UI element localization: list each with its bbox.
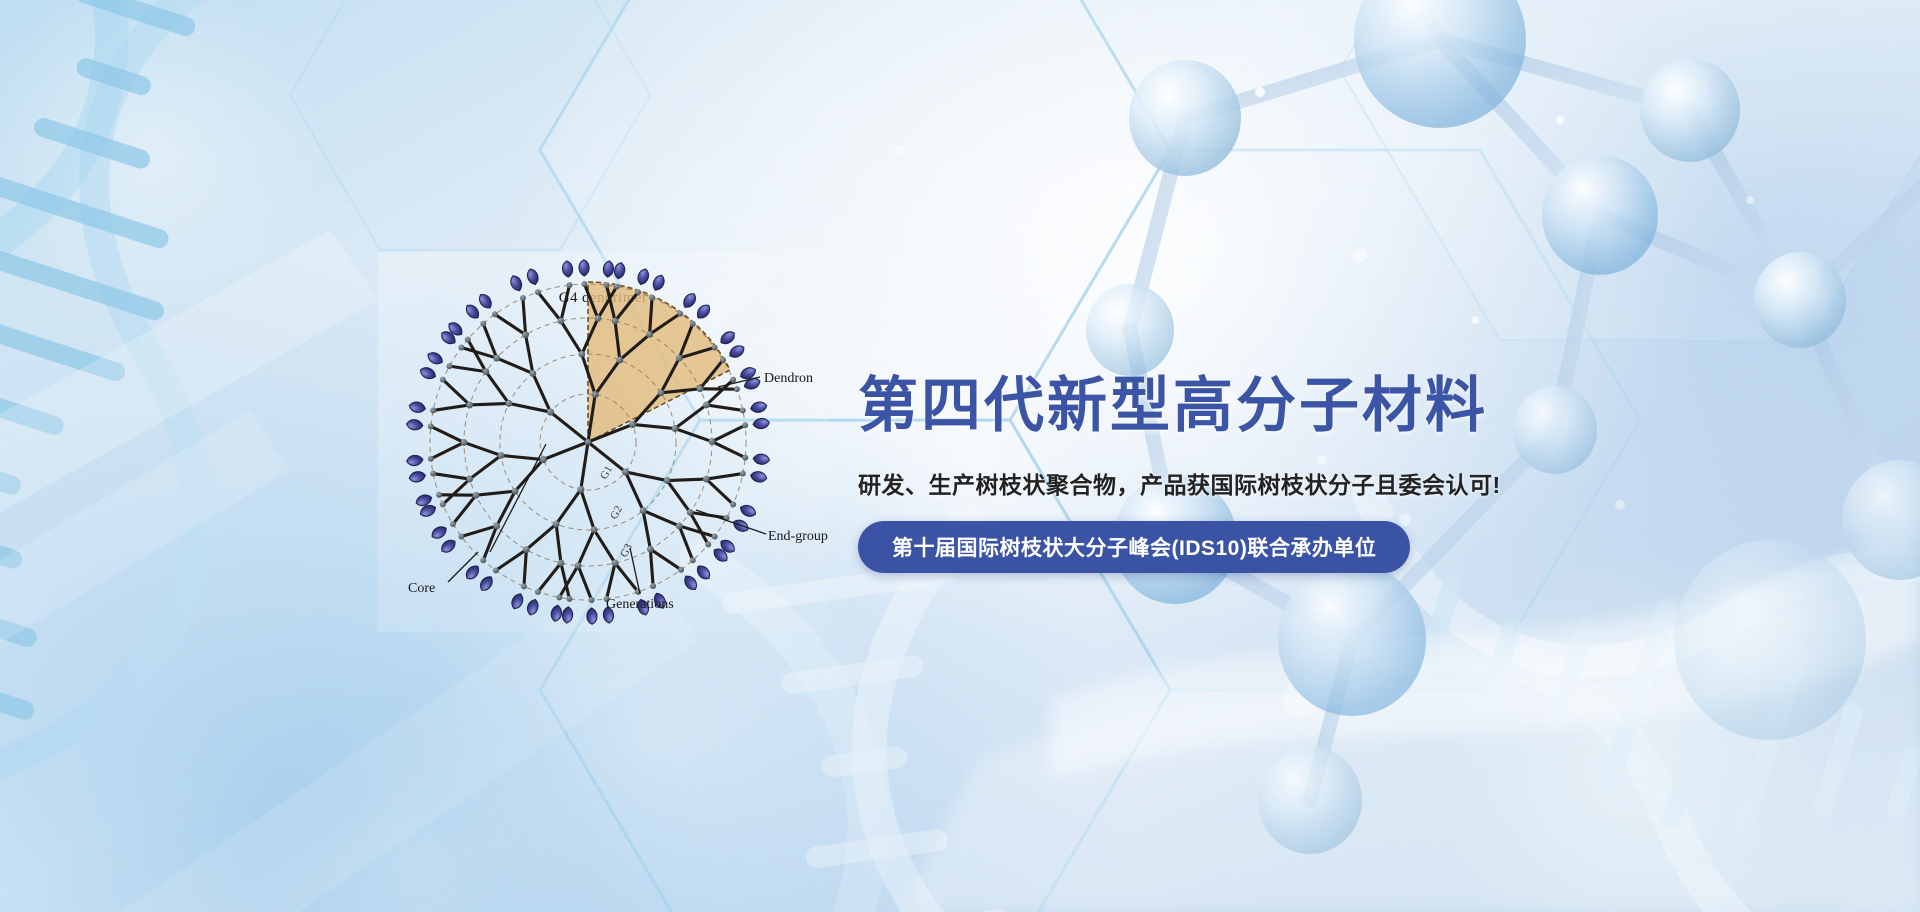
generation-label: G2 — [608, 504, 625, 522]
branch-node — [592, 391, 599, 398]
end-group-icon — [463, 563, 482, 582]
end-group-icon — [613, 262, 626, 280]
branch-node — [690, 321, 696, 327]
branch-node — [558, 560, 565, 567]
generation-label: G1 — [598, 464, 615, 482]
end-group-icon — [525, 598, 540, 617]
end-group-icon — [694, 302, 713, 321]
branch-node — [556, 594, 562, 600]
branch-node — [647, 546, 654, 553]
branch-node — [740, 407, 746, 413]
branch-node — [581, 281, 587, 287]
end-group-icon — [750, 401, 768, 414]
branch-node — [703, 402, 710, 409]
branch-node — [575, 562, 582, 569]
branch-node — [712, 534, 718, 540]
callout-label-dendron: Dendron — [764, 371, 813, 386]
page-title: 第四代新型高分子材料 — [858, 373, 1488, 439]
branch-node — [492, 311, 498, 317]
end-group-icon — [681, 291, 699, 310]
end-group-icon — [426, 350, 445, 367]
branch-node — [730, 377, 736, 383]
branch-node — [742, 455, 748, 461]
branch-node — [430, 471, 436, 477]
end-group-icon — [525, 267, 540, 286]
branch-node — [458, 534, 464, 540]
branch-node — [672, 425, 679, 432]
branch-node — [566, 282, 572, 288]
branch-node — [461, 439, 468, 446]
branch-node — [742, 422, 748, 428]
branch-node — [635, 289, 641, 295]
branch-node — [506, 400, 513, 407]
branch-node — [604, 282, 610, 288]
branch-node — [612, 560, 619, 567]
branch-node — [730, 501, 736, 507]
end-group-icon — [429, 524, 448, 541]
branch-node — [740, 471, 746, 477]
end-group-icon — [750, 470, 768, 483]
end-group-icon — [439, 537, 458, 555]
branch-node — [622, 468, 629, 475]
branch-node — [553, 521, 560, 528]
branch-node — [640, 507, 647, 514]
end-group-icon — [753, 453, 770, 465]
branch-node — [436, 492, 442, 498]
hero-banner: G4 dendrimer G1 — [0, 0, 1920, 912]
branch-node — [649, 295, 655, 301]
branch-node — [616, 357, 623, 364]
branch-node — [483, 368, 490, 375]
end-group-icon — [406, 419, 423, 431]
branch-node — [428, 456, 434, 462]
branch-node — [466, 476, 473, 483]
branch-node — [664, 477, 671, 484]
end-group-icon — [508, 274, 524, 293]
branch-node — [566, 596, 572, 602]
end-group-icon — [463, 302, 482, 321]
branch-node — [614, 284, 620, 290]
branch-node — [450, 521, 456, 527]
branch-node — [540, 456, 547, 463]
end-group-icon — [579, 260, 590, 277]
callout-label-generations: Generations — [606, 597, 674, 612]
branch-node — [646, 331, 653, 338]
branch-node — [547, 408, 554, 415]
branch-node — [629, 421, 636, 428]
generation-label: G3 — [618, 541, 635, 559]
branch-node — [428, 423, 434, 429]
branch-node — [493, 523, 500, 530]
branch-node — [591, 526, 598, 533]
end-group-icon — [682, 573, 700, 592]
end-group-icon — [602, 260, 614, 277]
end-group-icon — [509, 592, 525, 611]
branch-node — [446, 363, 452, 369]
branch-node — [529, 370, 536, 377]
end-group-icon — [753, 418, 770, 430]
branch-node — [678, 567, 684, 573]
end-group-icon — [651, 273, 667, 292]
end-group-icon — [562, 606, 574, 623]
branch-node — [535, 589, 541, 595]
branch-node — [578, 351, 585, 358]
page-subtitle: 研发、生产树枝状聚合物，产品获国际树枝状分子且委会认可! — [858, 469, 1501, 501]
end-group-icon — [477, 574, 495, 593]
branch-node — [589, 597, 595, 603]
end-group-icon — [562, 260, 574, 277]
branch-node — [676, 355, 683, 362]
branch-node — [466, 402, 473, 409]
branch-node — [558, 318, 565, 325]
end-group-icon — [727, 343, 746, 360]
end-group-icon — [406, 455, 423, 467]
branch-node — [709, 438, 716, 445]
branch-node — [677, 311, 683, 317]
end-group-icon — [587, 608, 598, 625]
end-group-icon — [550, 604, 563, 622]
branch-node — [520, 295, 526, 301]
branch-node — [687, 509, 694, 516]
end-group-icon — [418, 365, 437, 381]
summit-cohost-badge-button[interactable]: 第十届国际树枝状大分子峰会(IDS10)联合承办单位 — [858, 521, 1410, 573]
end-group-icon — [738, 503, 757, 519]
branch-node — [493, 567, 499, 573]
end-group-icon — [408, 470, 426, 483]
branch-node — [650, 583, 656, 589]
branch-node — [523, 546, 530, 553]
g4-dendrimer-figure: G4 dendrimer G1 — [378, 252, 828, 632]
callout-label-core: Core — [408, 581, 435, 596]
branch-node — [697, 385, 704, 392]
branch-node — [720, 357, 726, 363]
branch-node — [430, 407, 436, 413]
branch-node — [585, 439, 591, 445]
branch-node — [465, 336, 471, 342]
branch-node — [458, 345, 464, 351]
branch-node — [703, 476, 710, 483]
end-group-icon — [636, 267, 651, 286]
branch-node — [480, 557, 486, 563]
branch-node — [480, 321, 486, 327]
branch-node — [440, 501, 446, 507]
end-group-icon — [408, 401, 426, 414]
branch-node — [676, 523, 683, 530]
callout-label-end-groups: End-groups — [768, 529, 828, 544]
branch-node — [522, 331, 529, 338]
branch-node — [498, 452, 505, 459]
end-group-icon — [476, 292, 494, 311]
branch-node — [712, 345, 718, 351]
branch-node — [512, 488, 519, 495]
branch-node — [734, 386, 740, 392]
branch-node — [440, 377, 446, 383]
branch-node — [577, 486, 584, 493]
branch-node — [612, 318, 619, 325]
branch-node — [473, 492, 480, 499]
g4-dendrimer-illustration: G4 dendrimer G1 — [378, 252, 828, 632]
end-group-icon — [694, 563, 713, 582]
branch-node — [535, 289, 541, 295]
end-group-icon — [718, 329, 737, 347]
branch-node — [658, 389, 665, 396]
branch-node — [493, 355, 500, 362]
branch-node — [595, 315, 602, 322]
branch-node — [705, 542, 711, 548]
branch-node — [521, 583, 527, 589]
branch-node — [690, 557, 696, 563]
